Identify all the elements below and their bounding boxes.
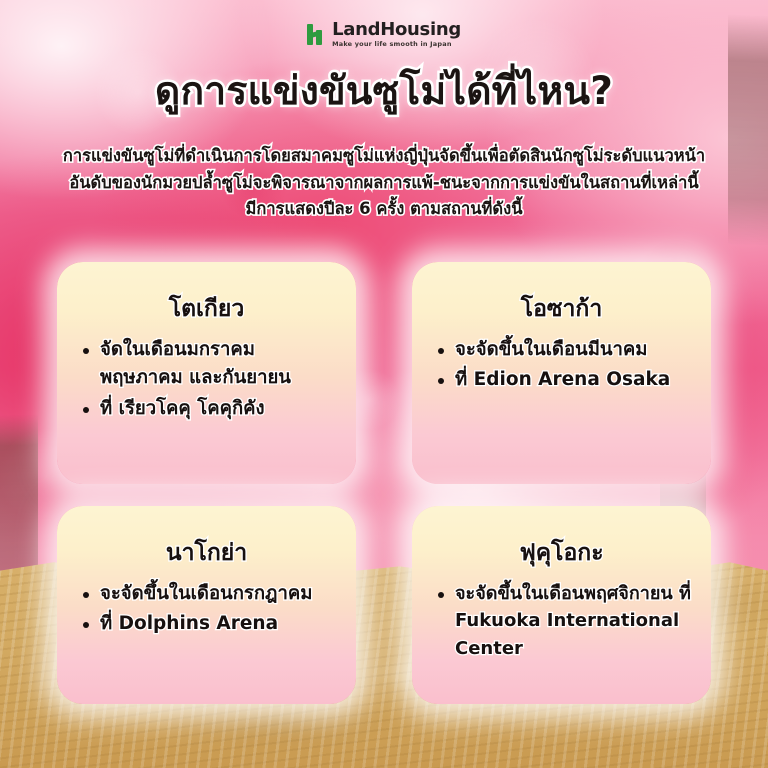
intro-line-2: อันดับของนักมวยปล้ำซูโม่จะพิจารณาจากผลกา…	[24, 170, 744, 197]
land-housing-logo-icon	[307, 24, 327, 45]
brand-logo-text: LandHousing Make your life smooth in Jap…	[332, 21, 461, 48]
venue-bullet-list: จะจัดขึ้นในเดือนมีนาคม ที่ Edion Arena O…	[430, 336, 693, 395]
venue-card-title: โอซาก้า	[430, 296, 693, 324]
venue-card-fukuoka: ฟุคุโอกะ จะจัดขึ้นในเดือนพฤศจิกายน ที่ F…	[412, 506, 711, 704]
venue-card-grid: โตเกียว จัดในเดือนมกราคม พฤษภาคม และกันย…	[57, 262, 711, 704]
venue-card-title: นาโกย่า	[75, 540, 338, 568]
brand-tagline: Make your life smooth in Japan	[332, 41, 461, 48]
venue-bullet-list: จะจัดขึ้นในเดือนพฤศจิกายน ที่ Fukuoka In…	[430, 580, 693, 664]
venue-card-title: ฟุคุโอกะ	[430, 540, 693, 568]
intro-paragraph: การแข่งขันซูโม่ที่ดำเนินการโดยสมาคมซูโม่…	[24, 143, 744, 223]
page-title: ดูการแข่งขันซูโม่ได้ที่ไหน?	[0, 70, 768, 114]
brand-name: LandHousing	[332, 21, 461, 39]
venue-card-tokyo: โตเกียว จัดในเดือนมกราคม พฤษภาคม และกันย…	[57, 262, 356, 484]
venue-bullet-item: จะจัดขึ้นในเดือนมีนาคม	[436, 336, 691, 365]
venue-bullet-list: จัดในเดือนมกราคม พฤษภาคม และกันยายน ที่ …	[75, 336, 338, 424]
brand-name-part1: Land	[332, 19, 380, 40]
venue-bullet-item: ที่ Edion Arena Osaka	[436, 366, 691, 395]
venue-bullet-item: ที่ Dolphins Arena	[81, 610, 336, 639]
venue-card-title: โตเกียว	[75, 296, 338, 324]
venue-bullet-item: จะจัดขึ้นในเดือนพฤศจิกายน ที่ Fukuoka In…	[436, 580, 691, 664]
venue-bullet-item: จะจัดขึ้นในเดือนกรกฎาคม	[81, 580, 336, 609]
brand-logo: LandHousing Make your life smooth in Jap…	[0, 21, 768, 48]
venue-bullet-list: จะจัดขึ้นในเดือนกรกฎาคม ที่ Dolphins Are…	[75, 580, 338, 639]
intro-line-3: มีการแสดงปีละ 6 ครั้ง ตามสถานที่ดังนี้	[24, 196, 744, 223]
brand-name-part2: Housing	[380, 19, 461, 40]
venue-bullet-item: จัดในเดือนมกราคม พฤษภาคม และกันยายน	[81, 336, 336, 393]
venue-card-nagoya: นาโกย่า จะจัดขึ้นในเดือนกรกฎาคม ที่ Dolp…	[57, 506, 356, 704]
intro-line-1: การแข่งขันซูโม่ที่ดำเนินการโดยสมาคมซูโม่…	[24, 143, 744, 170]
infographic-poster: LandHousing Make your life smooth in Jap…	[0, 0, 768, 768]
venue-bullet-item: ที่ เรียวโคคุ โคคุกิคัง	[81, 395, 336, 424]
venue-card-osaka: โอซาก้า จะจัดขึ้นในเดือนมีนาคม ที่ Edion…	[412, 262, 711, 484]
